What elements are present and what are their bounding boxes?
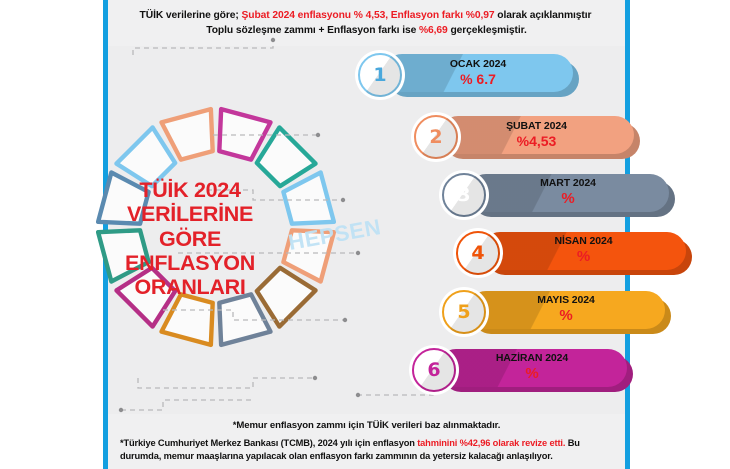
bar-body[interactable]: MAYIS 2024% (467, 291, 665, 329)
bar-month-label: ŞUBAT 2024 (506, 121, 567, 133)
bar-month-label: OCAK 2024 (450, 59, 506, 71)
donut-title-line-1: VERİLERİNE (106, 202, 274, 226)
bar-number-badge[interactable]: 2 (411, 112, 461, 162)
donut-center-title: TÜİK 2024 VERİLERİNE GÖRE ENFLASYON ORAN… (106, 178, 274, 299)
bar-month-label: MAYIS 2024 (537, 295, 595, 307)
month-bar-row[interactable]: NİSAN 2024%4 (453, 228, 688, 278)
month-bar-row[interactable]: ŞUBAT 2024%4,532 (411, 112, 636, 162)
bar-number-badge[interactable]: 3 (439, 170, 489, 220)
bar-number-badge[interactable]: 5 (439, 287, 489, 337)
bar-body[interactable]: MART 2024% (467, 174, 669, 212)
bar-number-badge[interactable]: 1 (355, 50, 405, 100)
bar-number-badge[interactable]: 4 (453, 228, 503, 278)
bar-month-label: MART 2024 (540, 178, 596, 190)
badge-number: 6 (427, 361, 440, 380)
donut-title-line-3: ENFLASYON (106, 251, 274, 275)
bar-month-label: HAZİRAN 2024 (496, 353, 568, 365)
bar-value-label: %4,53 (517, 134, 557, 149)
badge-number: 1 (373, 66, 386, 85)
badge-number: 3 (457, 186, 470, 205)
month-bar-row[interactable]: HAZİRAN 2024%6 (409, 345, 629, 395)
donut-title-line-4: ORANLARI (106, 275, 274, 299)
bar-month-label: NİSAN 2024 (555, 236, 613, 248)
badge-number: 4 (471, 244, 484, 263)
donut-title-line-0: TÜİK 2024 (106, 178, 274, 202)
donut-title-line-2: GÖRE (106, 227, 274, 251)
month-bar-row[interactable]: MART 2024%3 (439, 170, 671, 220)
month-bar-row[interactable]: MAYIS 2024%5 (439, 287, 667, 337)
bar-value-label: % (561, 191, 574, 208)
bar-value-label: % (559, 308, 572, 325)
bar-value-label: % 6.7 (460, 72, 496, 87)
bar-body[interactable]: HAZİRAN 2024% (437, 349, 627, 387)
badge-number: 5 (457, 303, 470, 322)
bar-number-badge[interactable]: 6 (409, 345, 459, 395)
bar-body[interactable]: ŞUBAT 2024%4,53 (439, 116, 634, 154)
bar-value-label: % (577, 249, 590, 266)
bar-body[interactable]: OCAK 2024% 6.7 (383, 54, 573, 92)
badge-number: 2 (429, 128, 442, 147)
infographic-root: TÜİK verilerine göre; Şubat 2024 enflasy… (0, 0, 730, 469)
month-bar-row[interactable]: OCAK 2024% 6.71 (355, 50, 575, 100)
bar-body[interactable]: NİSAN 2024% (481, 232, 686, 270)
bar-value-label: % (525, 366, 538, 383)
